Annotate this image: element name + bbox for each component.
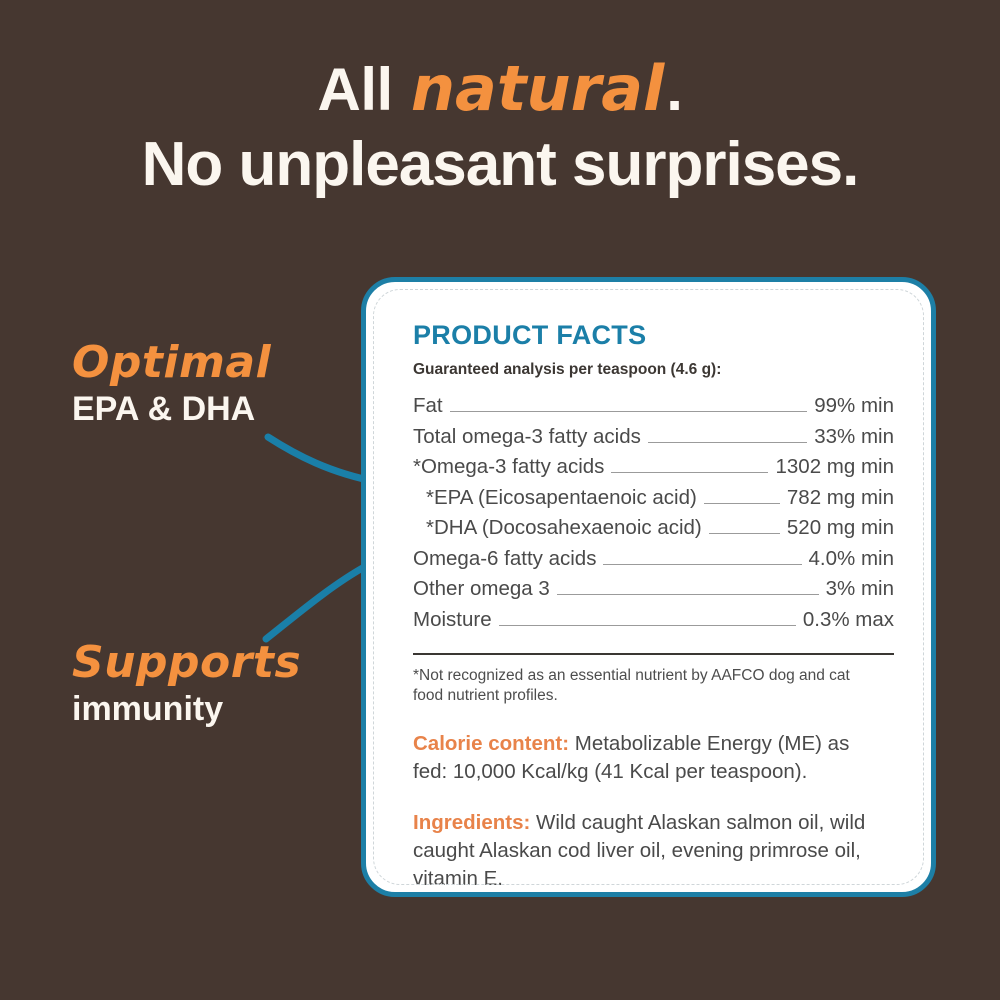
nutrition-row: Moisture0.3% max <box>413 610 894 631</box>
card-title: PRODUCT FACTS <box>413 320 901 351</box>
ingredients-block: Ingredients: Wild caught Alaskan salmon … <box>413 809 888 893</box>
nutrition-row-label: *DHA (Docosahexaenoic acid) <box>413 518 702 539</box>
callout-optimal: Optimal EPA & DHA <box>72 340 392 429</box>
callout-immunity: Supports immunity <box>72 640 392 729</box>
nutrition-row-label: Moisture <box>413 610 492 631</box>
callout-optimal-script: Optimal <box>72 340 392 386</box>
nutrition-row: Omega-6 fatty acids4.0% min <box>413 549 894 570</box>
nutrition-row-leader <box>611 471 768 473</box>
nutrition-row-label: Fat <box>413 396 443 417</box>
nutrition-row-label: Other omega 3 <box>413 579 550 600</box>
nutrition-row-value: 782 mg min <box>787 488 894 509</box>
nutrition-row-leader <box>557 593 819 595</box>
calorie-content-label: Calorie content: <box>413 732 569 755</box>
nutrition-row-value: 1302 mg min <box>775 457 894 478</box>
nutrition-row-value: 0.3% max <box>803 610 894 631</box>
nutrition-row-label: Total omega-3 fatty acids <box>413 427 641 448</box>
callout-immunity-script: Supports <box>72 640 392 686</box>
headline-period: . <box>666 56 682 123</box>
nutrition-row: *EPA (Eicosapentaenoic acid)782 mg min <box>413 488 894 509</box>
nutrition-row-value: 33% min <box>814 427 894 448</box>
nutrition-row-leader <box>704 502 780 504</box>
nutrition-row: *Omega-3 fatty acids1302 mg min <box>413 457 894 478</box>
nutrition-row-label: Omega-6 fatty acids <box>413 549 596 570</box>
nutrition-row-leader <box>603 563 801 565</box>
calorie-content-block: Calorie content: Metabolizable Energy (M… <box>413 730 888 786</box>
nutrition-row-value: 520 mg min <box>787 518 894 539</box>
nutrition-row-leader <box>709 532 780 534</box>
nutrition-row: *DHA (Docosahexaenoic acid)520 mg min <box>413 518 894 539</box>
callout-optimal-sub: EPA & DHA <box>72 390 392 429</box>
headline-accent-word: natural <box>409 52 666 125</box>
nutrition-row-leader <box>450 410 808 412</box>
ingredients-label: Ingredients: <box>413 811 530 834</box>
headline-line-2: No unpleasant surprises. <box>0 134 1000 196</box>
headline-line-1: All natural. <box>0 58 1000 120</box>
nutrition-row-label: *Omega-3 fatty acids <box>413 457 604 478</box>
nutrition-row: Total omega-3 fatty acids33% min <box>413 427 894 448</box>
nutrition-row-value: 3% min <box>826 579 894 600</box>
nutrition-rows: Fat99% minTotal omega-3 fatty acids33% m… <box>413 396 894 631</box>
nutrition-row-value: 99% min <box>814 396 894 417</box>
nutrition-row: Fat99% min <box>413 396 894 417</box>
callout-immunity-sub: immunity <box>72 690 392 729</box>
footnote-text: *Not recognized as an essential nutrient… <box>413 666 883 707</box>
arrow-lower-curve <box>266 566 366 639</box>
nutrition-row-leader <box>648 441 807 443</box>
headline-line-1-pre: All <box>318 56 393 123</box>
section-divider <box>413 653 894 655</box>
nutrition-row-value: 4.0% min <box>809 549 894 570</box>
nutrition-row-label: *EPA (Eicosapentaenoic acid) <box>413 488 697 509</box>
card-subtitle: Guaranteed analysis per teaspoon (4.6 g)… <box>413 361 901 379</box>
nutrition-row: Other omega 33% min <box>413 579 894 600</box>
headline-block: All natural. No unpleasant surprises. <box>0 58 1000 196</box>
nutrition-row-leader <box>499 624 796 626</box>
product-facts-card: PRODUCT FACTS Guaranteed analysis per te… <box>361 277 936 897</box>
